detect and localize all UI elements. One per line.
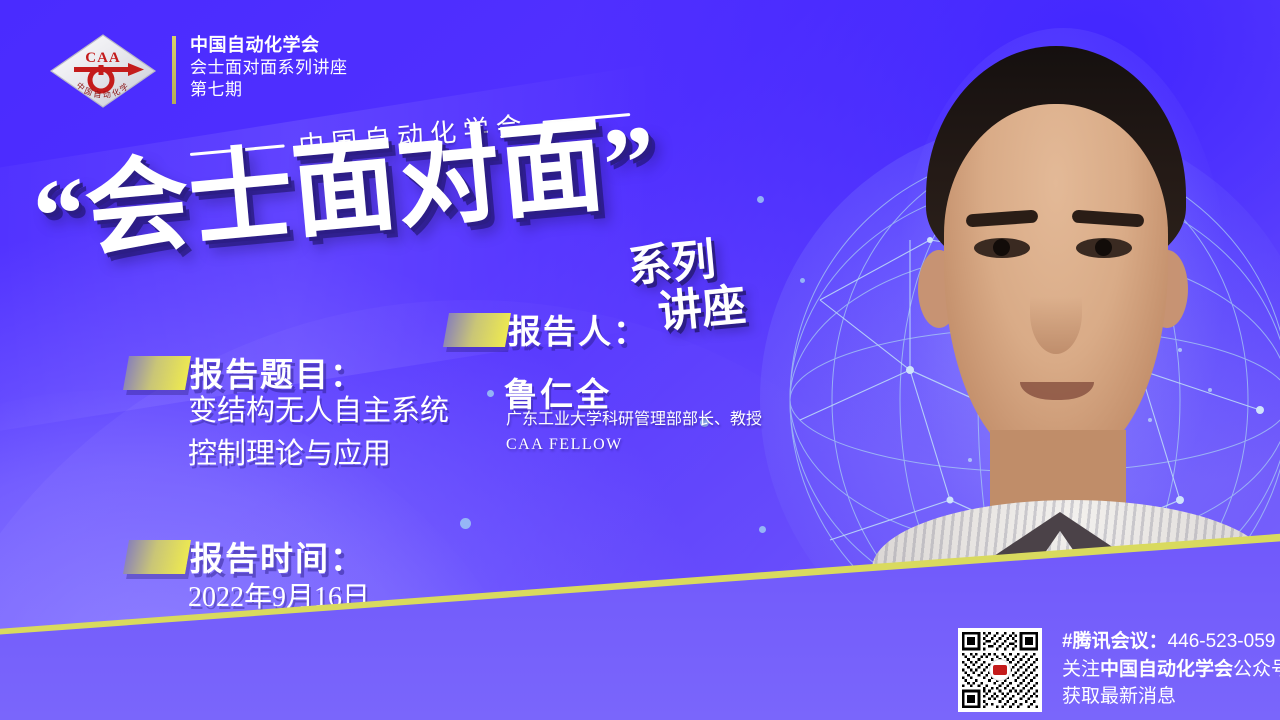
header-org-name: 中国自动化学会 (190, 34, 348, 57)
accent-block-topic (123, 356, 191, 390)
topic-heading: 报告题目： (190, 348, 365, 396)
follow-suffix: 公众号 (1233, 659, 1280, 680)
header-text-group: 中国自动化学会 会士面对面系列讲座 第七期 (190, 32, 348, 101)
poster-root: CAA 中国自动化学会 中国自动化学会 会士面对面系列讲座 第七期 中国自动化学… (0, 0, 1280, 720)
decorative-dot (487, 390, 494, 397)
topic-line-1: 变结构无人自主系统 (188, 390, 449, 432)
follow-org: 中国自动化学会 (1100, 659, 1233, 680)
portrait-halo (898, 28, 1228, 588)
hero-main-title: “会士面对面” (29, 110, 660, 270)
topic-line-2: 控制理论与应用 (188, 433, 391, 475)
header: CAA 中国自动化学会 中国自动化学会 会士面对面系列讲座 第七期 (48, 32, 348, 110)
qr-center-logo (989, 659, 1011, 681)
hero-title-block: 中国自动化学会 “会士面对面” 系列 讲座 (0, 118, 780, 308)
portrait-hair (926, 46, 1186, 276)
svg-text:CAA: CAA (85, 50, 121, 66)
meeting-id: 446-523-059 (1168, 631, 1276, 652)
portrait-eye-left (974, 238, 1030, 258)
decorative-dot (759, 526, 766, 533)
follow-prefix: 关注 (1062, 659, 1100, 680)
portrait-brow-right (1072, 210, 1145, 228)
speaker-fellow: CAA FELLOW (506, 433, 762, 458)
speaker-affiliation: 广东工业大学科研管理部部长、教授 (506, 408, 762, 433)
follow-line-2: 获取最新消息 (1062, 683, 1280, 711)
accent-block-schedule (123, 540, 191, 574)
portrait-pupil-left (993, 239, 1010, 256)
portrait-pupil-right (1095, 239, 1112, 256)
speaker-details: 广东工业大学科研管理部部长、教授 CAA FELLOW (506, 408, 762, 458)
header-episode: 第七期 (190, 79, 348, 101)
portrait-face (944, 104, 1168, 464)
meeting-label: #腾讯会议： (1062, 631, 1168, 652)
portrait-ear-right (1146, 250, 1188, 328)
caa-logo: CAA 中国自动化学会 (48, 32, 158, 110)
portrait-neck (990, 430, 1126, 550)
follow-line: 关注中国自动化学会公众号 (1062, 656, 1280, 684)
portrait-mouth (1020, 382, 1094, 400)
qr-center-logo-mark (993, 665, 1007, 675)
hero-side-line2: 讲座 (656, 284, 748, 336)
portrait-eye-right (1076, 238, 1132, 258)
accent-block-speaker (443, 313, 511, 347)
portrait-ear-left (918, 250, 960, 328)
meeting-line: #腾讯会议：446-523-059 (1062, 628, 1280, 656)
header-divider (172, 36, 176, 104)
portrait-nose (1030, 272, 1082, 354)
portrait-brow-left (966, 210, 1039, 228)
speaker-heading: 报告人： (508, 305, 648, 353)
header-series-name: 会士面对面系列讲座 (190, 57, 348, 79)
decorative-dot (800, 278, 805, 283)
qr-code[interactable] (958, 628, 1042, 712)
decorative-dot (460, 518, 471, 529)
schedule-heading: 报告时间： (190, 532, 365, 580)
footer-contact-info: #腾讯会议：446-523-059 关注中国自动化学会公众号 获取最新消息 (1062, 628, 1280, 711)
caa-emblem-icon: CAA 中国自动化学会 (48, 32, 158, 110)
